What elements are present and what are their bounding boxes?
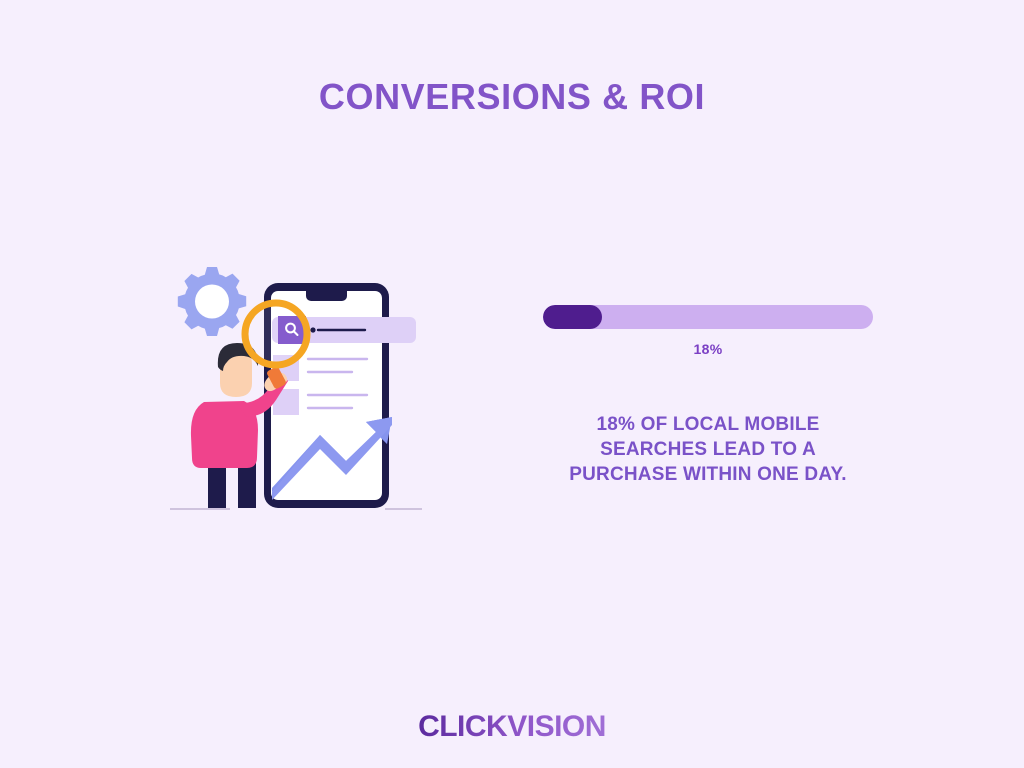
progress-bar-track[interactable] [543,305,873,329]
slide-canvas: CONVERSIONS & ROI [0,0,1024,768]
stat-caption-line-1: 18% OF LOCAL MOBILE [528,412,888,437]
brand-logo-text: CLICKVISION [418,710,606,744]
page-title: CONVERSIONS & ROI [0,76,1024,118]
brand-logo: CLICKVISION [0,710,1024,744]
phone-notch [306,291,347,301]
gear-icon [178,267,246,336]
progress-bar-fill [543,305,602,329]
stat-caption: 18% OF LOCAL MOBILE SEARCHES LEAD TO A P… [528,412,888,487]
progress-value-label: 18% [543,341,873,357]
stat-caption-line-3: PURCHASE WITHIN ONE DAY. [528,462,888,487]
mobile-search-analytics-illustration [160,255,435,525]
conversion-stat-block: 18% [543,305,873,357]
stat-caption-line-2: SEARCHES LEAD TO A [528,437,888,462]
